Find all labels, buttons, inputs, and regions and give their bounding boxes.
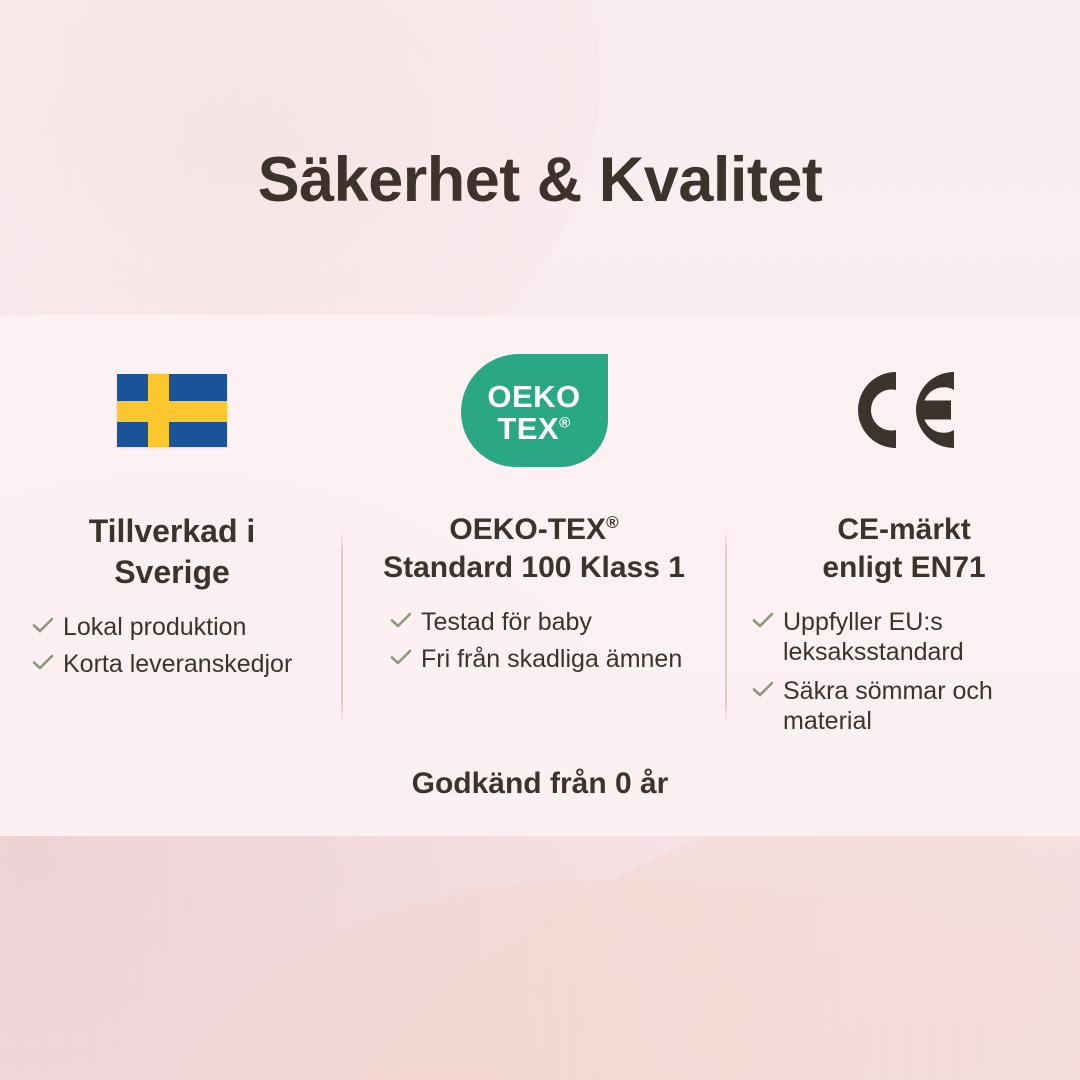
list-item-label: Fri från skadliga ämnen <box>421 644 682 674</box>
column-oeko-tex: OEKO TEX® OEKO-TEX®Standard 100 Klass 1 … <box>342 315 726 755</box>
list-item: Uppfyller EU:s leksaksstandard <box>752 607 1060 667</box>
ce-mark-icon <box>844 362 964 458</box>
list-item: Testad för baby <box>390 607 702 637</box>
badge-zone-ce <box>748 315 1060 505</box>
list-item: Fri från skadliga ämnen <box>390 644 702 674</box>
certification-columns: Tillverkad i Sverige Lokal produktion Ko… <box>0 315 1080 755</box>
list-item-label: Lokal produktion <box>63 612 246 642</box>
badge-zone-oeko-tex: OEKO TEX® <box>366 315 702 505</box>
list-item-label: Testad för baby <box>421 607 592 637</box>
check-icon <box>390 649 412 670</box>
oeko-badge-line2: TEX® <box>497 413 570 445</box>
oeko-badge-line1: OEKO <box>487 381 580 413</box>
swedish-flag-icon <box>117 374 227 447</box>
column-heading-oeko-tex: OEKO-TEX®Standard 100 Klass 1 <box>366 511 702 587</box>
check-icon <box>32 654 54 675</box>
bullet-list-sweden: Lokal produktion Korta leveranskedjor <box>24 612 320 679</box>
bullet-list-ce: Uppfyller EU:s leksaksstandard Säkra söm… <box>748 607 1060 736</box>
list-item: Korta leveranskedjor <box>32 649 320 679</box>
check-icon <box>752 681 774 702</box>
column-made-in-sweden: Tillverkad i Sverige Lokal produktion Ko… <box>0 315 342 755</box>
list-item-label: Korta leveranskedjor <box>63 649 292 679</box>
check-icon <box>390 612 412 633</box>
heading-line1: OEKO-TEX <box>449 513 606 546</box>
column-heading-sweden: Tillverkad i Sverige <box>24 511 320 592</box>
registered-trademark-icon: ® <box>606 513 619 532</box>
registered-trademark-icon: ® <box>559 415 571 432</box>
heading-line2: Standard 100 Klass 1 <box>383 551 685 584</box>
flag-cross-vertical <box>148 374 169 447</box>
list-item: Lokal produktion <box>32 612 320 642</box>
safety-quality-infographic: Säkerhet & Kvalitet Tillverkad i Sverige <box>0 0 1080 1080</box>
list-item-label: Säkra sömmar och material <box>783 676 1060 736</box>
list-item-label: Uppfyller EU:s leksaksstandard <box>783 607 1060 667</box>
bullet-list-oeko-tex: Testad för baby Fri från skadliga ämnen <box>366 607 702 674</box>
column-ce-mark: CE-märkt enligt EN71 Uppfyller EU:s leks… <box>726 315 1080 755</box>
check-icon <box>32 617 54 638</box>
badge-zone-sweden <box>24 315 320 505</box>
oeko-badge-line2-text: TEX <box>497 411 559 446</box>
check-icon <box>752 612 774 633</box>
flag-cross-horizontal <box>117 401 227 422</box>
card-footer-text: Godkänd från 0 år <box>0 767 1080 801</box>
oeko-tex-droplet-icon: OEKO TEX® <box>461 354 608 467</box>
certification-card: Tillverkad i Sverige Lokal produktion Ko… <box>0 315 1080 836</box>
column-heading-ce: CE-märkt enligt EN71 <box>748 511 1060 587</box>
page-title: Säkerhet & Kvalitet <box>0 146 1080 215</box>
list-item: Säkra sömmar och material <box>752 676 1060 736</box>
